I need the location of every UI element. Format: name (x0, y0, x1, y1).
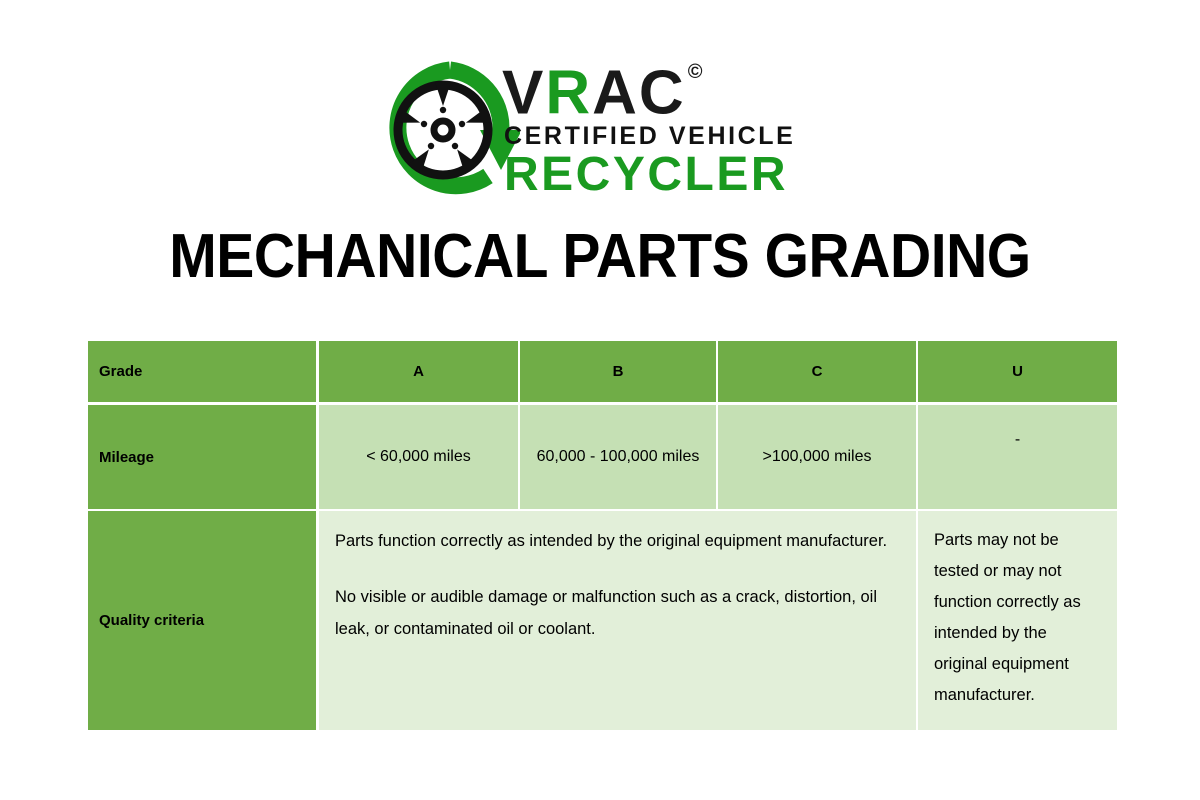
vrac-logo: VRAC© CERTIFIED VEHICLE RECYCLER (380, 55, 840, 205)
table-row-quality-criteria: Quality criteria Parts function correctl… (88, 511, 1117, 730)
header-label-a: A (413, 363, 424, 380)
mileage-cell-a: < 60,000 miles (319, 405, 518, 509)
row-label-quality-criteria: Quality criteria (88, 511, 316, 730)
mileage-value-b: 60,000 - 100,000 miles (537, 442, 700, 472)
logo-wordmark: VRAC© CERTIFIED VEHICLE RECYCLER (502, 55, 842, 203)
mileage-cell-c: >100,000 miles (718, 405, 916, 509)
quality-paragraph-2: No visible or audible damage or malfunct… (335, 581, 900, 645)
table-row-mileage: Mileage < 60,000 miles 60,000 - 100,000 … (88, 405, 1117, 509)
header-label-c: C (812, 363, 823, 380)
mileage-cell-u: - (918, 405, 1117, 509)
header-cell-u: U (918, 341, 1117, 402)
mechanical-parts-grading-table: Grade A B C U Mileage < 60,000 miles 60,… (88, 341, 1117, 730)
header-cell-b: B (520, 341, 716, 402)
header-label-b: B (613, 363, 624, 380)
brand-letter-v: V (502, 59, 545, 128)
brand-letter-r: R (545, 59, 592, 128)
header-cell-a: A (319, 341, 518, 402)
row-label-mileage: Mileage (88, 405, 316, 509)
header-cell-grade: Grade (88, 341, 316, 402)
brand-name-vrac: VRAC© (502, 53, 700, 127)
row-label-mileage-text: Mileage (99, 449, 154, 466)
wheel-recycle-arrow-logo-icon (380, 58, 520, 198)
brand-name-recycler: RECYCLER (504, 148, 788, 202)
logo-tagline: CERTIFIED VEHICLE (504, 121, 795, 151)
mileage-value-a: < 60,000 miles (366, 442, 471, 472)
mileage-value-c: >100,000 miles (763, 442, 872, 472)
quality-cell-u: Parts may not be tested or may not funct… (918, 511, 1117, 730)
quality-cell-abc: Parts function correctly as intended by … (319, 511, 916, 730)
brand-letters-ac: AC (592, 59, 686, 128)
page-title: MECHANICAL PARTS GRADING (48, 222, 1152, 292)
mileage-cell-b: 60,000 - 100,000 miles (520, 405, 716, 509)
header-label-u: U (1012, 363, 1023, 380)
header-label-grade: Grade (99, 363, 142, 380)
quality-paragraph-u: Parts may not be tested or may not funct… (934, 525, 1101, 711)
copyright-icon: © (688, 61, 703, 83)
header-cell-c: C (718, 341, 916, 402)
row-label-quality-criteria-text: Quality criteria (99, 612, 204, 629)
table-header-row: Grade A B C U (88, 341, 1117, 402)
quality-paragraph-1: Parts function correctly as intended by … (335, 525, 887, 557)
mileage-value-u: - (1015, 425, 1020, 455)
